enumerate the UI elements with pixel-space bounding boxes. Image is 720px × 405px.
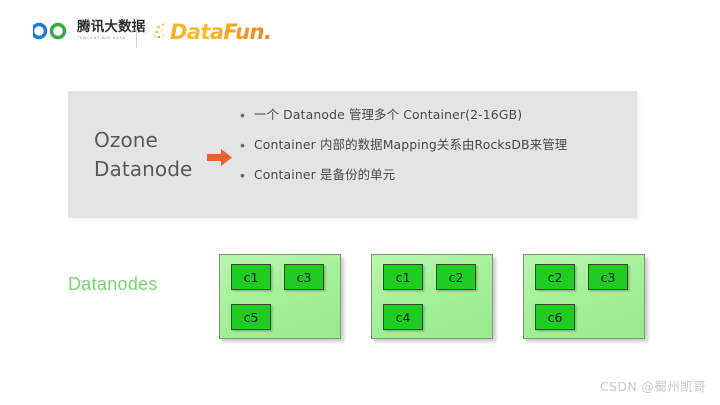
sparkle-icon xyxy=(154,21,169,43)
container-chip[interactable]: c2 xyxy=(436,264,476,290)
datanode-box[interactable]: c2 c3 c6 xyxy=(523,254,645,339)
bullet-item: • 一个 Datanode 管理多个 Container(2-16GB) xyxy=(240,105,630,125)
container-chip[interactable]: c3 xyxy=(284,264,324,290)
datanode-box[interactable]: c1 c3 c5 xyxy=(219,254,341,339)
bullet-text: Container 是备份的单元 xyxy=(254,165,395,185)
container-chip-grid: c1 c3 c5 xyxy=(231,264,331,330)
bullet-item: • Container 是备份的单元 xyxy=(240,165,630,185)
datanode-box[interactable]: c1 c2 c4 xyxy=(371,254,493,339)
panel-title: Ozone Datanode xyxy=(94,126,192,184)
right-arrow-icon xyxy=(207,148,233,167)
container-chip[interactable]: c2 xyxy=(535,264,575,290)
panel-title-line-2: Datanode xyxy=(94,155,192,184)
container-chip[interactable]: c6 xyxy=(535,304,575,330)
bullet-dot-icon: • xyxy=(240,135,254,155)
container-chip[interactable]: c3 xyxy=(588,264,628,290)
bullet-list: • 一个 Datanode 管理多个 Container(2-16GB) • C… xyxy=(240,105,630,185)
logo-divider xyxy=(136,18,137,48)
logo-bar: 腾讯大数据 TENCENT BIG DATA DataFun. xyxy=(0,0,720,72)
datafun-logo: DataFun. xyxy=(154,21,271,43)
datanodes-label: Datanodes xyxy=(68,274,158,295)
datafun-wordmark: DataFun. xyxy=(170,22,271,43)
csdn-watermark: CSDN @蜀州凯哥 xyxy=(600,376,706,395)
infinity-loop-icon xyxy=(33,19,71,43)
container-chip[interactable]: c4 xyxy=(383,304,423,330)
bullet-dot-icon: • xyxy=(240,165,254,185)
container-chip[interactable]: c1 xyxy=(231,264,271,290)
bullet-item: • Container 内部的数据Mapping关系由RocksDB来管理 xyxy=(240,135,630,155)
container-chip[interactable]: c5 xyxy=(231,304,271,330)
tencent-bigdata-logo: 腾讯大数据 TENCENT BIG DATA xyxy=(33,19,146,43)
bullet-text: Container 内部的数据Mapping关系由RocksDB来管理 xyxy=(254,135,567,155)
container-chip[interactable]: c1 xyxy=(383,264,423,290)
bullet-dot-icon: • xyxy=(240,105,254,125)
bullet-text: 一个 Datanode 管理多个 Container(2-16GB) xyxy=(254,105,522,125)
container-chip-grid: c1 c2 c4 xyxy=(383,264,483,330)
container-chip-grid: c2 c3 c6 xyxy=(535,264,635,330)
panel-title-line-1: Ozone xyxy=(94,126,192,155)
datanode-row: c1 c3 c5 c1 c2 c4 c2 c3 c6 xyxy=(219,254,645,339)
ozone-datanode-panel: Ozone Datanode • 一个 Datanode 管理多个 Contai… xyxy=(68,91,637,218)
